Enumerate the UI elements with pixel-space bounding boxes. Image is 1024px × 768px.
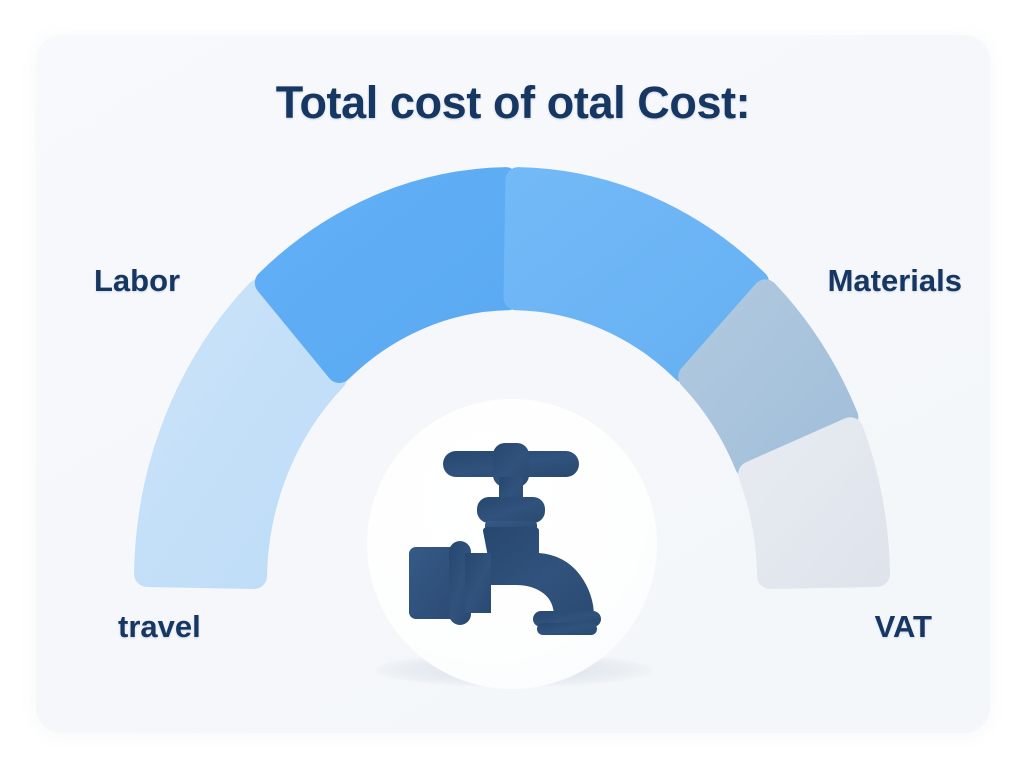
gauge-segment-materials-secondary[interactable] [691, 292, 845, 465]
gauge-segment-travel[interactable] [147, 292, 334, 576]
gauge-segment-labor[interactable] [268, 180, 508, 370]
gauge-segment-vat[interactable] [751, 430, 877, 576]
segment-label-labor: Labor [94, 263, 180, 299]
segment-label-materials: Materials [828, 263, 962, 299]
gauge-segment-materials-primary[interactable] [517, 180, 757, 370]
faucet-icon [391, 435, 631, 635]
segment-label-vat: VAT [875, 609, 932, 645]
infographic-card: Total cost of otal Cost: [36, 35, 990, 733]
page-title: Total cost of otal Cost: [36, 77, 990, 129]
screenshot-root: Total cost of otal Cost: [0, 0, 1024, 768]
segment-label-travel: travel [118, 609, 201, 645]
